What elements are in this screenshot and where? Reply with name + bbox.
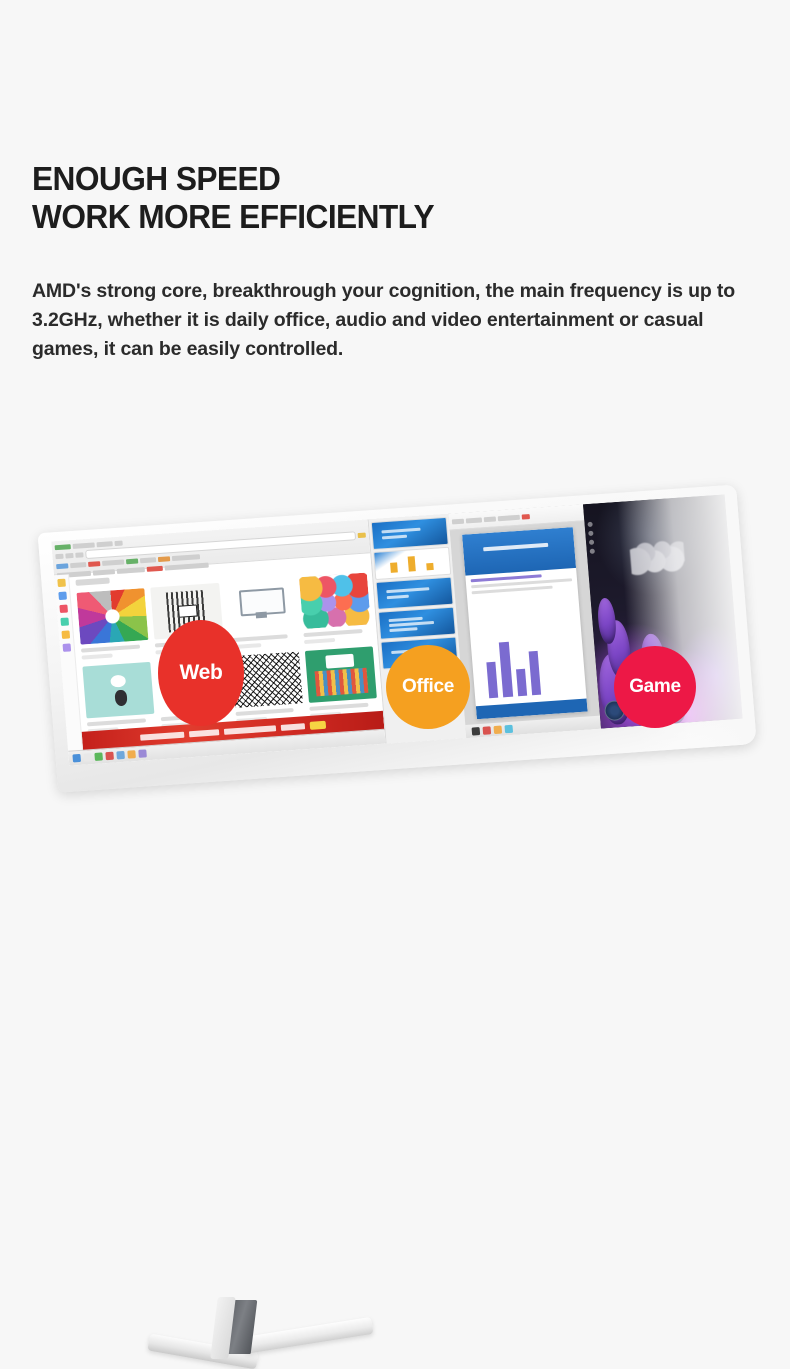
sidebar-item-icon[interactable] [63,643,72,652]
monitor-bezel [38,485,757,793]
promo-text [140,731,184,740]
gallery-item[interactable] [299,573,373,645]
document-footer-band [476,699,587,720]
office-menu-item[interactable] [484,516,496,522]
new-tab-icon[interactable] [114,540,122,546]
chart-bar [499,642,513,697]
ultrawide-monitor [38,485,757,793]
forward-icon[interactable] [65,553,73,559]
item-caption [81,645,140,653]
office-close-icon[interactable] [522,514,530,520]
office-menu-item[interactable] [466,517,482,523]
gallery-item[interactable] [225,578,299,650]
item-caption [229,634,288,642]
monitor-stand-base-right [242,1317,373,1354]
browser-tab[interactable] [55,544,71,550]
item-caption [303,629,362,637]
gallery-section-title [75,578,109,586]
taskbar-icon[interactable] [138,749,147,758]
promo-text [189,729,219,737]
browser-tab[interactable] [72,542,94,549]
sidebar-item-icon[interactable] [58,592,67,601]
taskbar-icon[interactable] [83,753,92,762]
hud-icon[interactable] [590,549,595,554]
promo-text [281,723,305,731]
chart-bar [528,651,541,695]
pane-office-document [449,504,602,738]
item-caption [309,703,368,711]
slide-chart-bar [390,562,398,573]
star-icon[interactable] [358,533,366,539]
office-taskbar[interactable] [466,716,602,738]
hud-icon[interactable] [588,531,593,536]
slide-body-line [389,621,434,627]
badge-office[interactable]: Office [386,645,470,729]
hud-icon[interactable] [588,522,593,527]
bookmark-item[interactable] [70,562,86,568]
icon-set-thumbnail[interactable] [299,573,371,630]
monitor-thumbnail[interactable] [225,578,297,635]
taskbar-icon[interactable] [127,750,136,759]
bookmark-item[interactable] [56,563,68,569]
taskbar-icon[interactable] [505,724,514,733]
taskbar-icon[interactable] [116,751,125,760]
sidebar-item-icon[interactable] [60,617,69,626]
back-icon[interactable] [55,554,63,560]
hero-text-block: ENOUGH SPEED WORK MORE EFFICIENTLY [32,160,762,236]
slide-thumbnail[interactable] [379,608,455,639]
promo-text [224,725,276,735]
office-menu-item[interactable] [452,518,464,524]
slide-thumbnail[interactable] [372,518,448,549]
taskbar-icon[interactable] [94,752,103,761]
slide-chart-bar [407,556,416,572]
bookmark-item[interactable] [88,561,100,567]
body-paragraph: AMD's strong core, breakthrough your cog… [32,277,754,364]
slide-thumbnail[interactable] [377,578,453,609]
slide-body-line [387,595,409,600]
item-subcaption [304,638,336,644]
browser-tab[interactable] [96,541,112,547]
sidebar-item-icon[interactable] [59,605,68,614]
bookmark-item[interactable] [126,558,138,564]
gallery-item[interactable] [76,588,150,660]
bookmark-item[interactable] [172,554,200,561]
taskbar-icon[interactable] [472,727,481,736]
gallery-item[interactable] [82,662,156,734]
sidebar-item-icon[interactable] [57,579,66,588]
taskbar-icon[interactable] [483,726,492,735]
snowman-thumbnail[interactable] [82,662,154,719]
slide-chart-bar [426,562,434,570]
badge-game[interactable]: Game [614,646,696,728]
promo-cta-button[interactable] [310,720,327,729]
item-subcaption [82,653,114,659]
taskbar-icon[interactable] [72,754,81,763]
document-bar-chart [481,628,546,698]
bookmark-item[interactable] [158,556,170,562]
document-title-line [483,543,547,551]
colored-pencils-thumbnail[interactable] [76,588,148,645]
chart-bar [486,662,498,698]
slide-title-line [382,528,421,534]
bookshelf-thumbnail[interactable] [305,646,377,703]
gallery-item[interactable] [305,646,379,718]
slide-body-line [382,534,407,539]
document-body [466,568,588,720]
headline-line-1: ENOUGH SPEED [32,160,733,198]
badge-web[interactable]: Web [158,620,244,726]
headline-line-2: WORK MORE EFFICIENTLY [32,198,733,236]
taskbar-icon[interactable] [105,752,114,761]
chart-bar [516,669,528,696]
hud-icon[interactable] [589,540,594,545]
page-title: ENOUGH SPEED WORK MORE EFFICIENTLY [32,160,733,236]
taskbar-icon[interactable] [494,725,503,734]
bookmark-item[interactable] [102,559,124,566]
item-caption [235,708,294,716]
item-caption [87,718,146,726]
slide-body-line [390,627,418,632]
reload-icon[interactable] [75,552,83,558]
slide-title-line [386,587,429,593]
slide-thumbnail[interactable] [374,548,450,579]
bookmark-item[interactable] [140,557,156,563]
sidebar-item-icon[interactable] [61,630,70,639]
office-menu-item[interactable] [498,514,520,521]
document-page[interactable] [462,527,587,719]
